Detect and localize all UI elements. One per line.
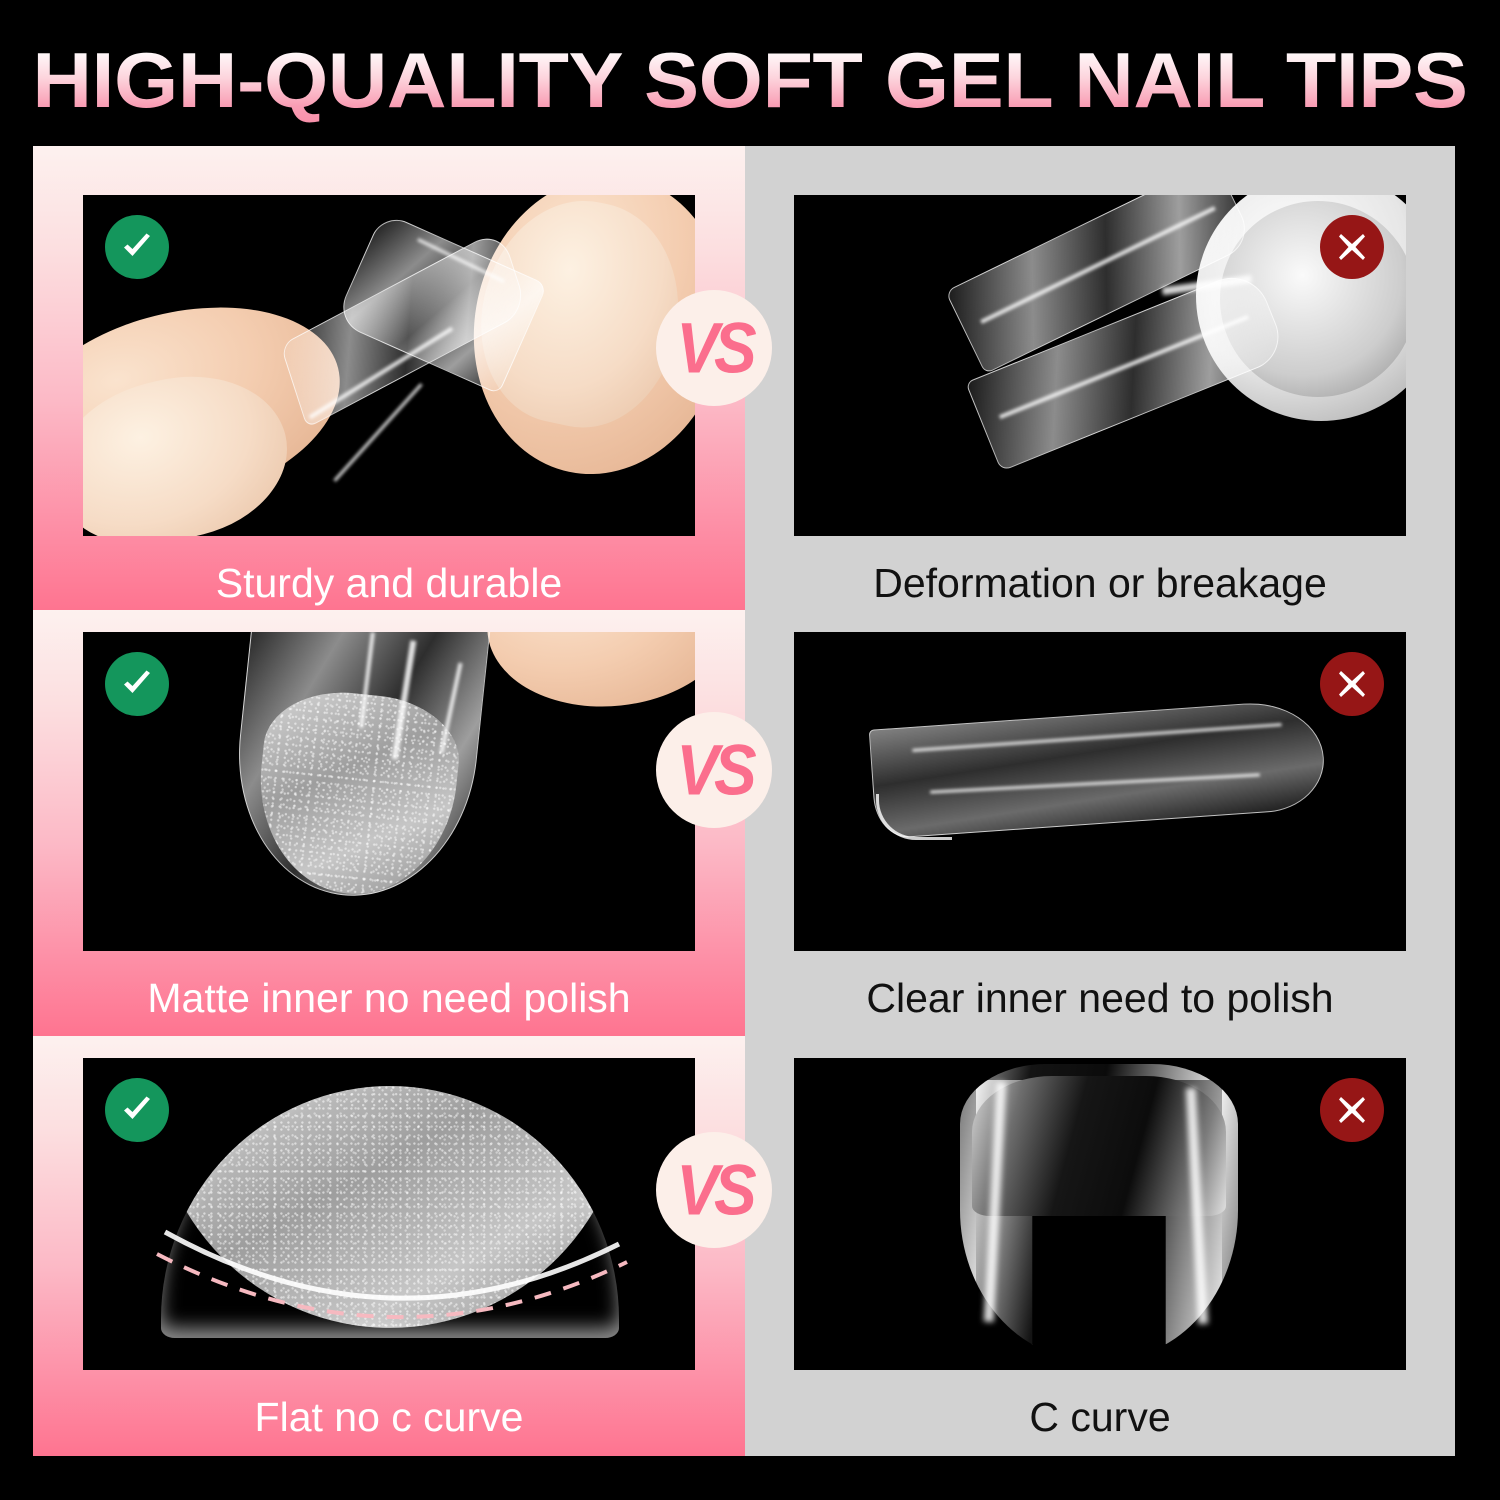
bad-column: Deformation or breakage Clear inner ne (745, 146, 1455, 1456)
good-row-1: Sturdy and durable (33, 146, 745, 610)
check-icon (105, 652, 169, 716)
bad-row-3: C curve (745, 1036, 1455, 1456)
page-title-bar: HIGH-QUALITY SOFT GEL NAIL TIPS (0, 34, 1500, 126)
good-column: Sturdy and durable (33, 146, 745, 1456)
versus-icon: VS (676, 1154, 751, 1226)
bad-photo-3 (794, 1058, 1406, 1370)
cross-icon (1320, 1078, 1384, 1142)
bad-caption-2: Clear inner need to polish (745, 977, 1455, 1020)
versus-badge-2: VS (656, 712, 772, 828)
good-photo-3 (83, 1058, 695, 1370)
versus-icon: VS (676, 734, 751, 806)
good-row-2: Matte inner no need polish (33, 610, 745, 1036)
bad-photo-2 (794, 632, 1406, 951)
versus-icon: VS (676, 312, 751, 384)
good-caption-1: Sturdy and durable (33, 562, 745, 605)
check-icon (105, 1078, 169, 1142)
bad-photo-1 (794, 195, 1406, 536)
good-photo-2 (83, 632, 695, 951)
good-caption-2: Matte inner no need polish (33, 977, 745, 1020)
versus-badge-1: VS (656, 290, 772, 406)
versus-badge-3: VS (656, 1132, 772, 1248)
bad-row-2: Clear inner need to polish (745, 610, 1455, 1036)
check-icon (105, 215, 169, 279)
page-title: HIGH-QUALITY SOFT GEL NAIL TIPS (32, 35, 1467, 126)
cross-icon (1320, 215, 1384, 279)
bad-row-1: Deformation or breakage (745, 146, 1455, 610)
bad-caption-1: Deformation or breakage (745, 562, 1455, 605)
bad-caption-3: C curve (745, 1396, 1455, 1439)
good-caption-3: Flat no c curve (33, 1396, 745, 1439)
cross-icon (1320, 652, 1384, 716)
good-row-3: Flat no c curve (33, 1036, 745, 1456)
good-photo-1 (83, 195, 695, 536)
